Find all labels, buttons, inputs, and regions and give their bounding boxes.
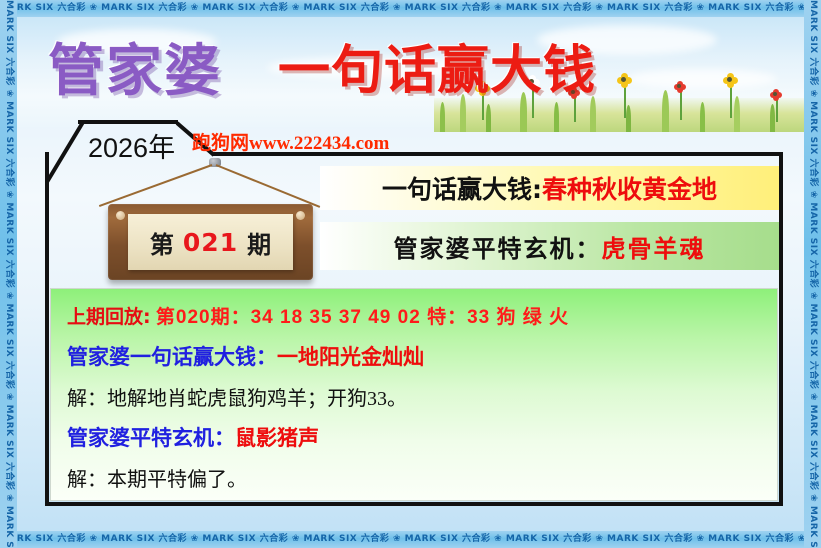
border-strip-left: MARK SIX 六合彩 ❀ MARK SIX 六合彩 ❀ MARK SIX 六… <box>0 0 17 548</box>
border-text-top: MARK SIX 六合彩 ❀ MARK SIX 六合彩 ❀ MARK SIX 六… <box>0 3 821 13</box>
banner-phrase-value: 春种秋收黄金地 <box>542 175 717 204</box>
rope-right <box>216 164 321 208</box>
issue-suffix: 期 <box>247 225 271 260</box>
replay-line: 上期回放: 第020期：34 18 35 37 49 02 特：33 狗 绿 火 <box>67 299 761 329</box>
banner-omen: 管家婆平特玄机：虎骨羊魂 <box>320 222 779 270</box>
site-url-link[interactable]: 跑狗网www.222434.com <box>192 128 389 155</box>
issue-prefix: 第 <box>150 225 174 260</box>
banner-omen-label: 管家婆平特玄机： <box>394 235 602 263</box>
page-title-brand: 管家婆 <box>48 26 222 107</box>
banner-phrase-text: 一句话赢大钱:春种秋收黄金地 <box>382 170 717 206</box>
phrase-line: 管家婆一句话赢大钱：一地阳光金灿灿 <box>67 333 761 371</box>
rope-left <box>99 164 212 207</box>
frame-hex-top <box>78 120 178 124</box>
omen-line: 管家婆平特玄机：鼠影猪声 <box>67 415 761 452</box>
page-root: MARK SIX 六合彩 ❀ MARK SIX 六合彩 ❀ MARK SIX 六… <box>0 0 821 548</box>
sign-paper: 第 021 期 <box>128 214 293 270</box>
banner-phrase: 一句话赢大钱:春种秋收黄金地 <box>320 166 779 210</box>
border-text-left: MARK SIX 六合彩 ❀ MARK SIX 六合彩 ❀ MARK SIX 六… <box>0 0 17 17</box>
border-strip-right: MARK SIX 六合彩 ❀ MARK SIX 六合彩 ❀ MARK SIX 六… <box>804 0 821 548</box>
border-strip-bottom: MARK SIX 六合彩 ❀ MARK SIX 六合彩 ❀ MARK SIX 六… <box>0 531 821 548</box>
border-strip-top: MARK SIX 六合彩 ❀ MARK SIX 六合彩 ❀ MARK SIX 六… <box>0 0 821 17</box>
sign-board: 第 021 期 <box>108 204 313 280</box>
content-panel: 上期回放: 第020期：34 18 35 37 49 02 特：33 狗 绿 火… <box>50 288 778 501</box>
omen-value: 鼠影猪声 <box>235 427 319 450</box>
page-title-slogan: 一句话赢大钱 <box>278 28 596 103</box>
phrase-value: 一地阳光金灿灿 <box>277 346 424 369</box>
banner-phrase-label: 一句话赢大钱: <box>382 175 542 204</box>
hanging-sign: 第 021 期 <box>100 160 320 285</box>
replay-label: 上期回放: <box>67 306 151 328</box>
replay-value: 第020期：34 18 35 37 49 02 特：33 狗 绿 火 <box>156 307 569 328</box>
phrase-label: 管家婆一句话赢大钱： <box>67 346 277 369</box>
main-title-group: 管家婆 一句话赢大钱 <box>0 22 821 102</box>
issue-number: 021 <box>183 228 238 257</box>
omen-label: 管家婆平特玄机： <box>67 427 235 450</box>
border-text-bottom: MARK SIX 六合彩 ❀ MARK SIX 六合彩 ❀ MARK SIX 六… <box>0 534 821 544</box>
border-text-right: MARK SIX 六合彩 ❀ MARK SIX 六合彩 ❀ MARK SIX 六… <box>804 0 821 17</box>
banner-omen-value: 虎骨羊魂 <box>602 235 706 263</box>
banner-omen-text: 管家婆平特玄机：虎骨羊魂 <box>394 229 706 264</box>
omen-explain: 解：本期平特偏了。 <box>67 456 761 492</box>
phrase-explain: 解：地解地肖蛇虎鼠狗鸡羊；开狗33。 <box>67 375 761 411</box>
